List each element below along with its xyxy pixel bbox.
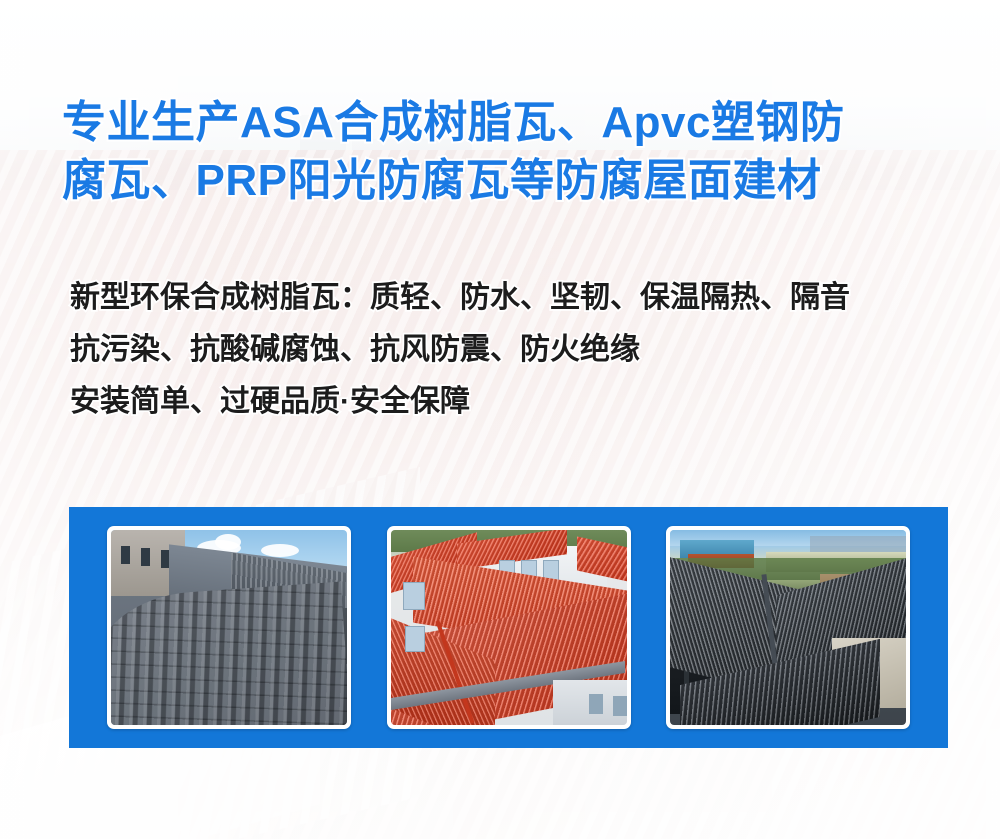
dark-tile-roof-photo xyxy=(670,530,906,725)
product-banner: 专业生产ASA合成树脂瓦、Apvc塑钢防 腐瓦、PRP阳光防腐瓦等防腐屋面建材 … xyxy=(0,0,1000,839)
photo-card-3[interactable] xyxy=(666,526,910,729)
photo-card-1[interactable] xyxy=(107,526,351,729)
window-shape xyxy=(589,694,603,714)
red-tile-roof-photo xyxy=(391,530,627,725)
window-shape xyxy=(405,626,425,652)
window-shape xyxy=(141,548,150,566)
cloud-shape xyxy=(215,534,241,550)
subheadline-line-3: 安装简单、过硬品质·安全保障 xyxy=(70,376,970,428)
cloud-shape xyxy=(261,544,299,557)
main-grey-tile-surface xyxy=(111,581,347,725)
subheadline-line-1: 新型环保合成树脂瓦：质轻、防水、坚韧、保温隔热、隔音 xyxy=(70,272,970,324)
photo-card-2[interactable] xyxy=(387,526,631,729)
grey-tile-roof-photo xyxy=(111,530,347,725)
window-shape xyxy=(121,546,130,564)
headline-line-1: 专业生产ASA合成树脂瓦、Apvc塑钢防 xyxy=(62,94,952,152)
headline: 专业生产ASA合成树脂瓦、Apvc塑钢防 腐瓦、PRP阳光防腐瓦等防腐屋面建材 xyxy=(62,94,952,210)
window-shape xyxy=(613,696,627,716)
subheadline: 新型环保合成树脂瓦：质轻、防水、坚韧、保温隔热、隔音 抗污染、抗酸碱腐蚀、抗风防… xyxy=(70,272,970,428)
distant-buildings xyxy=(810,536,906,552)
window-shape xyxy=(403,582,425,610)
subheadline-line-2: 抗污染、抗酸碱腐蚀、抗风防震、防火绝缘 xyxy=(70,324,970,376)
photo-gallery-panel xyxy=(69,507,948,748)
headline-line-2: 腐瓦、PRP阳光防腐瓦等防腐屋面建材 xyxy=(62,152,952,210)
